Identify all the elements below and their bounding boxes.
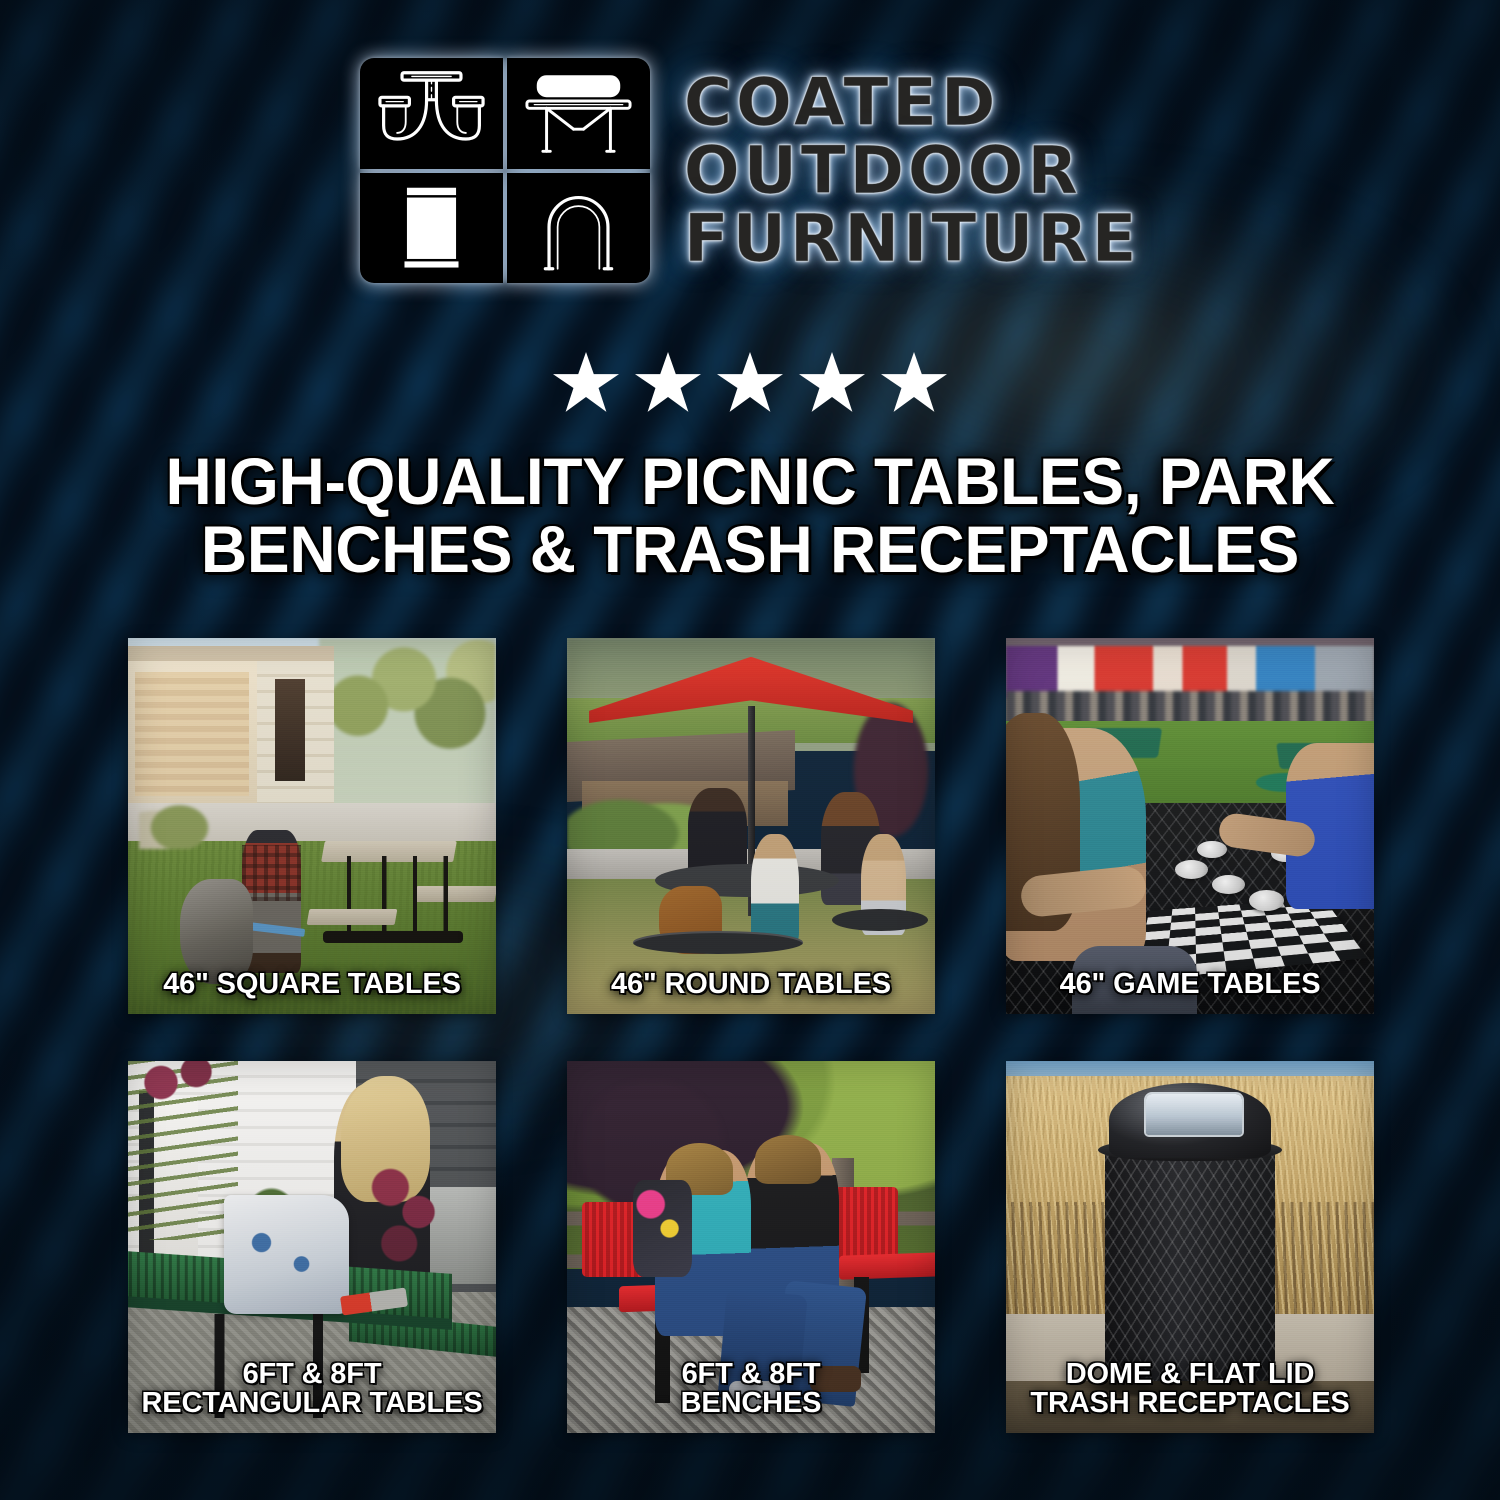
product-photo-game-tables <box>1006 638 1374 1014</box>
star-icon <box>635 352 701 415</box>
star-icon <box>553 352 619 415</box>
product-tile-benches[interactable]: 6FT & 8FT BENCHES <box>567 1061 935 1433</box>
product-label-line-1: 46" ROUND TABLES <box>573 970 929 1000</box>
star-icon <box>799 352 865 415</box>
brand-logo: COATED OUTDOOR FURNITURE <box>0 58 1500 283</box>
product-grid: 46" SQUARE TABLES <box>128 638 1374 1433</box>
product-label-line-1: 6FT & 8FT <box>134 1360 490 1390</box>
trash-receptacle-icon <box>360 173 503 284</box>
picnic-table-icon <box>360 58 503 169</box>
product-label: 46" SQUARE TABLES <box>134 970 490 1000</box>
product-label: 46" GAME TABLES <box>1012 970 1368 1000</box>
product-label-line-2: TRASH RECEPTACLES <box>1012 1389 1368 1419</box>
product-tile-game-tables[interactable]: 46" GAME TABLES <box>1006 638 1374 1014</box>
product-photo-round-tables <box>567 638 935 1014</box>
product-tile-square-tables[interactable]: 46" SQUARE TABLES <box>128 638 496 1014</box>
brand-name-line-3: FURNITURE <box>684 206 1140 272</box>
product-label: 6FT & 8FT RECTANGULAR TABLES <box>134 1360 490 1419</box>
star-rating <box>0 352 1500 415</box>
promo-poster: COATED OUTDOOR FURNITURE HIGH-QUALITY PI… <box>0 0 1500 1500</box>
product-label-line-1: 6FT & 8FT <box>573 1360 929 1390</box>
product-tile-rectangular-tables[interactable]: 6FT & 8FT RECTANGULAR TABLES <box>128 1061 496 1433</box>
product-label-line-1: 46" GAME TABLES <box>1012 970 1368 1000</box>
product-tile-round-tables[interactable]: 46" ROUND TABLES <box>567 638 935 1014</box>
product-label-line-2: BENCHES <box>573 1389 929 1419</box>
brand-wordmark: COATED OUTDOOR FURNITURE <box>684 70 1140 272</box>
park-bench-icon <box>507 58 650 169</box>
logo-mark <box>360 58 650 283</box>
brand-name-line-2: OUTDOOR <box>684 138 1082 204</box>
page-title: HIGH-QUALITY PICNIC TABLES, PARK BENCHES… <box>81 448 1420 584</box>
bike-rack-arch-icon <box>507 173 650 284</box>
brand-name-line-1: COATED <box>684 70 999 136</box>
product-label: 46" ROUND TABLES <box>573 970 929 1000</box>
star-icon <box>881 352 947 415</box>
product-photo-square-tables <box>128 638 496 1014</box>
star-icon <box>717 352 783 415</box>
product-label-line-2: RECTANGULAR TABLES <box>134 1389 490 1419</box>
product-label: 6FT & 8FT BENCHES <box>573 1360 929 1419</box>
product-tile-trash-receptacles[interactable]: DOME & FLAT LID TRASH RECEPTACLES <box>1006 1061 1374 1433</box>
product-label-line-1: 46" SQUARE TABLES <box>134 970 490 1000</box>
headline-line-1: HIGH-QUALITY PICNIC TABLES, PARK <box>81 448 1420 516</box>
product-label: DOME & FLAT LID TRASH RECEPTACLES <box>1012 1360 1368 1419</box>
headline-line-2: BENCHES & TRASH RECEPTACLES <box>81 516 1420 584</box>
product-label-line-1: DOME & FLAT LID <box>1012 1360 1368 1390</box>
